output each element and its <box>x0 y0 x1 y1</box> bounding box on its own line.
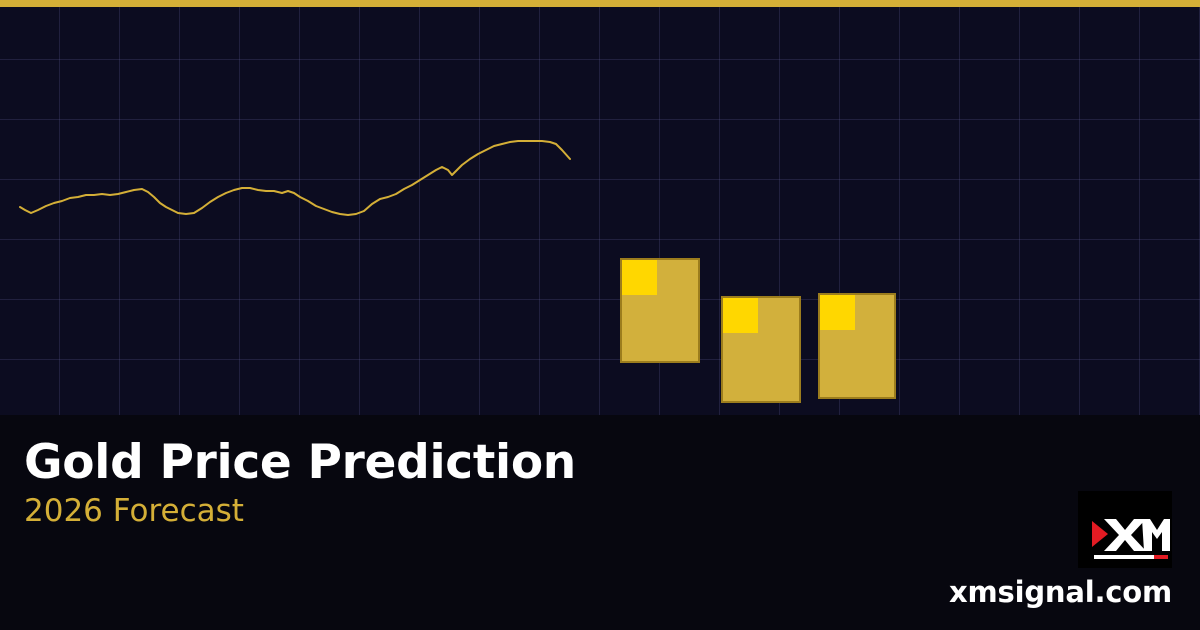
forecast-bar-3-highlight <box>820 295 855 330</box>
forecast-bar-2-highlight <box>723 298 758 333</box>
price-line-series <box>20 141 570 215</box>
forecast-bar-3 <box>818 293 896 399</box>
forecast-bar-1-highlight <box>622 260 657 295</box>
xm-logo-mark <box>1078 491 1172 568</box>
poster-canvas: Gold Price Prediction 2026 Forecast xmsi… <box>0 0 1200 630</box>
brand-block: xmsignal.com <box>949 491 1172 609</box>
title-block: Gold Price Prediction 2026 Forecast <box>24 438 576 528</box>
footer-band: Gold Price Prediction 2026 Forecast xmsi… <box>0 415 1200 630</box>
page-subtitle: 2026 Forecast <box>24 495 576 528</box>
top-accent-strip <box>0 0 1200 7</box>
chart-panel <box>0 7 1200 415</box>
forecast-bar-2 <box>721 296 801 403</box>
xm-logo-icon <box>1078 491 1172 568</box>
page-title: Gold Price Prediction <box>24 438 576 487</box>
forecast-bar-1 <box>620 258 700 363</box>
gold-price-line-chart <box>0 7 1200 415</box>
brand-url-text: xmsignal.com <box>949 575 1172 609</box>
